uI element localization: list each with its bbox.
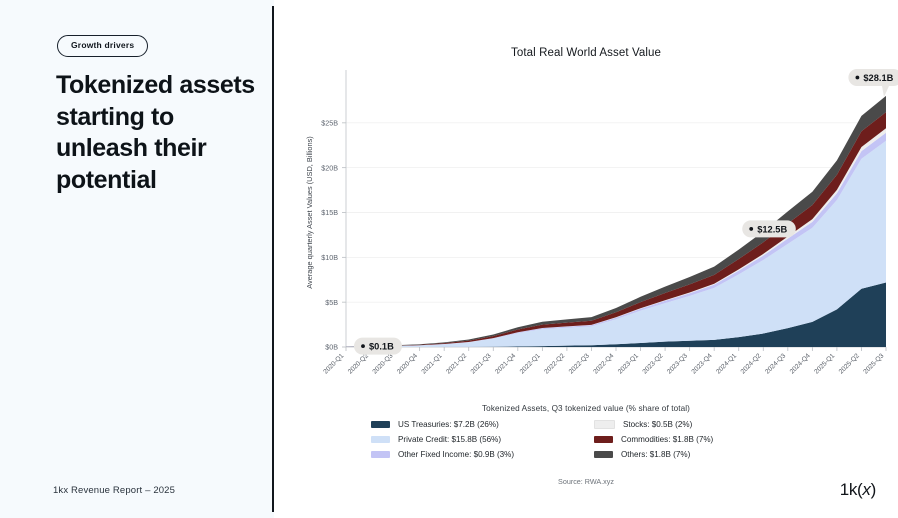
- legend-title: Tokenized Assets, Q3 tokenized value (% …: [274, 404, 898, 413]
- y-axis-tick-label: $0B: [325, 343, 338, 352]
- left-panel: Growth drivers Tokenized assets starting…: [0, 0, 274, 518]
- report-footer: 1kx Revenue Report – 2025: [53, 485, 175, 496]
- callout-value-label: $0.1B: [369, 342, 394, 352]
- legend-item[interactable]: Other Fixed Income: $0.9B (3%): [371, 448, 578, 461]
- callout-dot-icon: [856, 76, 860, 80]
- legend-swatch-icon: [371, 436, 390, 443]
- legend-swatch-icon: [371, 451, 390, 458]
- callout-value-label: $28.1B: [863, 73, 893, 83]
- y-axis-tick-label: $20B: [321, 163, 338, 172]
- legend-item[interactable]: Private Credit: $15.8B (56%): [371, 433, 578, 446]
- x-axis-tick-label: 2020-Q3: [371, 352, 394, 375]
- x-axis-tick-label: 2020-Q4: [396, 352, 419, 375]
- x-axis-tick-label: 2024-Q4: [789, 352, 812, 375]
- legend-label: Other Fixed Income: $0.9B (3%): [398, 450, 514, 459]
- brand-logo: 1k(x): [840, 480, 876, 500]
- legend-swatch-icon: [371, 421, 390, 428]
- x-axis-tick-label: 2022-Q4: [592, 352, 615, 375]
- legend-swatch-icon: [594, 436, 613, 443]
- x-axis-tick-label: 2023-Q4: [690, 352, 713, 375]
- callout-dot-icon: [361, 344, 365, 348]
- chart-annotation-callout: $12.5B: [742, 220, 796, 237]
- slide: Growth drivers Tokenized assets starting…: [0, 0, 898, 518]
- source-note: Source: RWA.xyz: [274, 477, 898, 486]
- x-axis-tick-label: 2021-Q1: [420, 352, 443, 375]
- brand-suffix: ): [871, 480, 876, 499]
- legend-item[interactable]: Others: $1.8B (7%): [594, 448, 801, 461]
- brand-prefix: 1k(: [840, 480, 863, 499]
- y-axis-tick-label: $25B: [321, 118, 338, 127]
- legend-item[interactable]: Stocks: $0.5B (2%): [594, 418, 801, 431]
- x-axis-tick-label: 2021-Q3: [470, 352, 493, 375]
- callout-dot-icon: [749, 227, 753, 231]
- legend-label: US Treasuries: $7.2B (26%): [398, 420, 499, 429]
- right-panel: Total Real World Asset Value $0B$5B$10B$…: [274, 0, 898, 518]
- brand-italic: x: [862, 480, 870, 499]
- x-axis-tick-label: 2023-Q1: [617, 352, 640, 375]
- y-axis-tick-label: $5B: [325, 298, 338, 307]
- legend-label: Others: $1.8B (7%): [621, 450, 690, 459]
- legend-item[interactable]: US Treasuries: $7.2B (26%): [371, 418, 578, 431]
- chart-legend: Tokenized Assets, Q3 tokenized value (% …: [274, 404, 898, 461]
- x-axis-tick-label: 2024-Q1: [715, 352, 738, 375]
- legend-label: Commodities: $1.8B (7%): [621, 435, 713, 444]
- x-axis-tick-label: 2024-Q2: [740, 352, 763, 375]
- x-axis-tick-label: 2023-Q2: [641, 352, 664, 375]
- x-axis-tick-label: 2022-Q1: [519, 352, 542, 375]
- legend-label: Stocks: $0.5B (2%): [623, 420, 692, 429]
- x-axis-tick-label: 2023-Q3: [666, 352, 689, 375]
- chart-annotation-callout: $0.1B: [354, 338, 402, 355]
- callout-tail: [882, 86, 889, 97]
- legend-item[interactable]: Commodities: $1.8B (7%): [594, 433, 801, 446]
- y-axis-tick-label: $10B: [321, 253, 338, 262]
- y-axis-title: Average quarterly Asset Values (USD, Bil…: [305, 136, 314, 289]
- x-axis-tick-label: 2021-Q2: [445, 352, 468, 375]
- legend-label: Private Credit: $15.8B (56%): [398, 435, 501, 444]
- x-axis-tick-label: 2020-Q2: [347, 352, 370, 375]
- x-axis-tick-label: 2020-Q1: [322, 352, 345, 375]
- y-axis-tick-label: $15B: [321, 208, 338, 217]
- growth-drivers-badge: Growth drivers: [57, 35, 148, 57]
- x-axis-tick-label: 2025-Q2: [838, 352, 861, 375]
- x-axis-tick-label: 2025-Q1: [813, 352, 836, 375]
- callout-value-label: $12.5B: [757, 224, 787, 234]
- x-axis-tick-label: 2024-Q3: [764, 352, 787, 375]
- legend-items: US Treasuries: $7.2B (26%)Stocks: $0.5B …: [371, 418, 801, 461]
- page-title: Tokenized assets starting to unleash the…: [56, 70, 256, 196]
- x-axis-tick-label: 2025-Q3: [862, 352, 885, 375]
- legend-swatch-icon: [594, 420, 615, 429]
- x-axis-tick-label: 2021-Q4: [494, 352, 517, 375]
- stacked-area-chart: $0B$5B$10B$15B$20B$25BAverage quarterly …: [274, 0, 898, 410]
- x-axis-tick-label: 2022-Q2: [543, 352, 566, 375]
- x-axis-tick-label: 2022-Q3: [568, 352, 591, 375]
- chart-annotation-callout: $28.1B: [848, 69, 898, 97]
- legend-swatch-icon: [594, 451, 613, 458]
